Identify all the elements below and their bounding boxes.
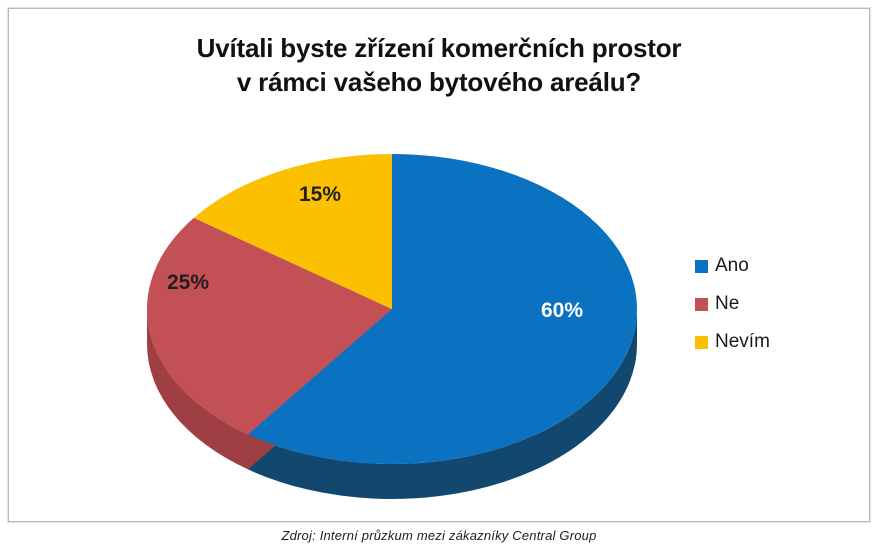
legend-item-ano[interactable]: Ano	[695, 247, 855, 285]
legend-swatch-nevim	[695, 336, 708, 349]
legend-swatch-ne	[695, 298, 708, 311]
slice-value-label-ano: 60%	[541, 299, 583, 323]
legend-item-nevim[interactable]: Nevím	[695, 323, 855, 361]
chart-frame: Uvítali byste zřízení komerčních prostor…	[8, 8, 870, 522]
chart-legend: Ano Ne Nevím	[695, 247, 855, 361]
slice-value-label-nevim: 15%	[299, 183, 341, 207]
legend-item-ne[interactable]: Ne	[695, 285, 855, 323]
legend-label-nevim: Nevím	[715, 331, 770, 353]
legend-label-ano: Ano	[715, 255, 749, 277]
legend-swatch-ano	[695, 260, 708, 273]
source-note: Zdroj: Interní průzkum mezi zákazníky Ce…	[0, 528, 878, 543]
legend-label-ne: Ne	[715, 293, 739, 315]
slice-value-label-ne: 25%	[167, 271, 209, 295]
